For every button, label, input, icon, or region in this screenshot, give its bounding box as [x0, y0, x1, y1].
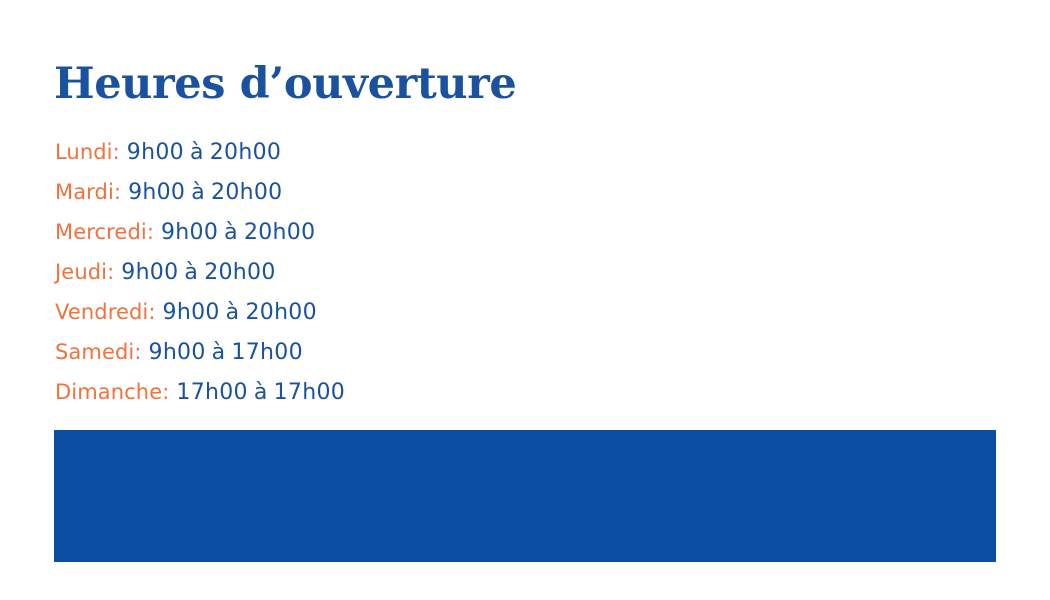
open-time: 9h00: [121, 260, 178, 285]
hours-row: Mardi:9h00à20h00: [55, 172, 345, 212]
opening-hours-list: Lundi:9h00à20h00 Mardi:9h00à20h00 Mercre…: [55, 132, 345, 412]
slide-canvas: Heures d’ouverture Lundi:9h00à20h00 Mard…: [0, 0, 1050, 600]
time-range: 9h00à20h00: [128, 180, 282, 205]
time-range: 9h00à20h00: [161, 220, 315, 245]
close-time: 17h00: [274, 380, 345, 405]
day-label: Samedi:: [55, 340, 142, 364]
time-separator: à: [212, 340, 226, 365]
close-time: 20h00: [245, 300, 316, 325]
time-separator: à: [190, 140, 204, 165]
time-separator: à: [254, 380, 268, 405]
open-time: 9h00: [149, 340, 206, 365]
time-range: 9h00à20h00: [163, 300, 317, 325]
blue-content-block: [54, 430, 996, 562]
close-time: 17h00: [231, 340, 302, 365]
close-time: 20h00: [244, 220, 315, 245]
close-time: 20h00: [211, 180, 282, 205]
time-separator: à: [226, 300, 240, 325]
time-range: 17h00à17h00: [176, 380, 345, 405]
page-title: Heures d’ouverture: [54, 58, 516, 110]
hours-row: Vendredi:9h00à20h00: [55, 292, 345, 332]
day-label: Dimanche:: [55, 380, 169, 404]
hours-row: Lundi:9h00à20h00: [55, 132, 345, 172]
open-time: 9h00: [128, 180, 185, 205]
hours-row: Dimanche:17h00à17h00: [55, 372, 345, 412]
open-time: 17h00: [176, 380, 247, 405]
day-label: Mardi:: [55, 180, 121, 204]
day-label: Vendredi:: [55, 300, 156, 324]
open-time: 9h00: [163, 300, 220, 325]
hours-row: Samedi:9h00à17h00: [55, 332, 345, 372]
time-separator: à: [184, 260, 198, 285]
time-range: 9h00à20h00: [121, 260, 275, 285]
time-range: 9h00à17h00: [149, 340, 303, 365]
close-time: 20h00: [210, 140, 281, 165]
open-time: 9h00: [127, 140, 184, 165]
time-range: 9h00à20h00: [127, 140, 281, 165]
close-time: 20h00: [204, 260, 275, 285]
hours-row: Jeudi:9h00à20h00: [55, 252, 345, 292]
hours-row: Mercredi:9h00à20h00: [55, 212, 345, 252]
time-separator: à: [191, 180, 205, 205]
day-label: Mercredi:: [55, 220, 154, 244]
time-separator: à: [224, 220, 238, 245]
day-label: Jeudi:: [55, 260, 114, 284]
day-label: Lundi:: [55, 140, 120, 164]
open-time: 9h00: [161, 220, 218, 245]
